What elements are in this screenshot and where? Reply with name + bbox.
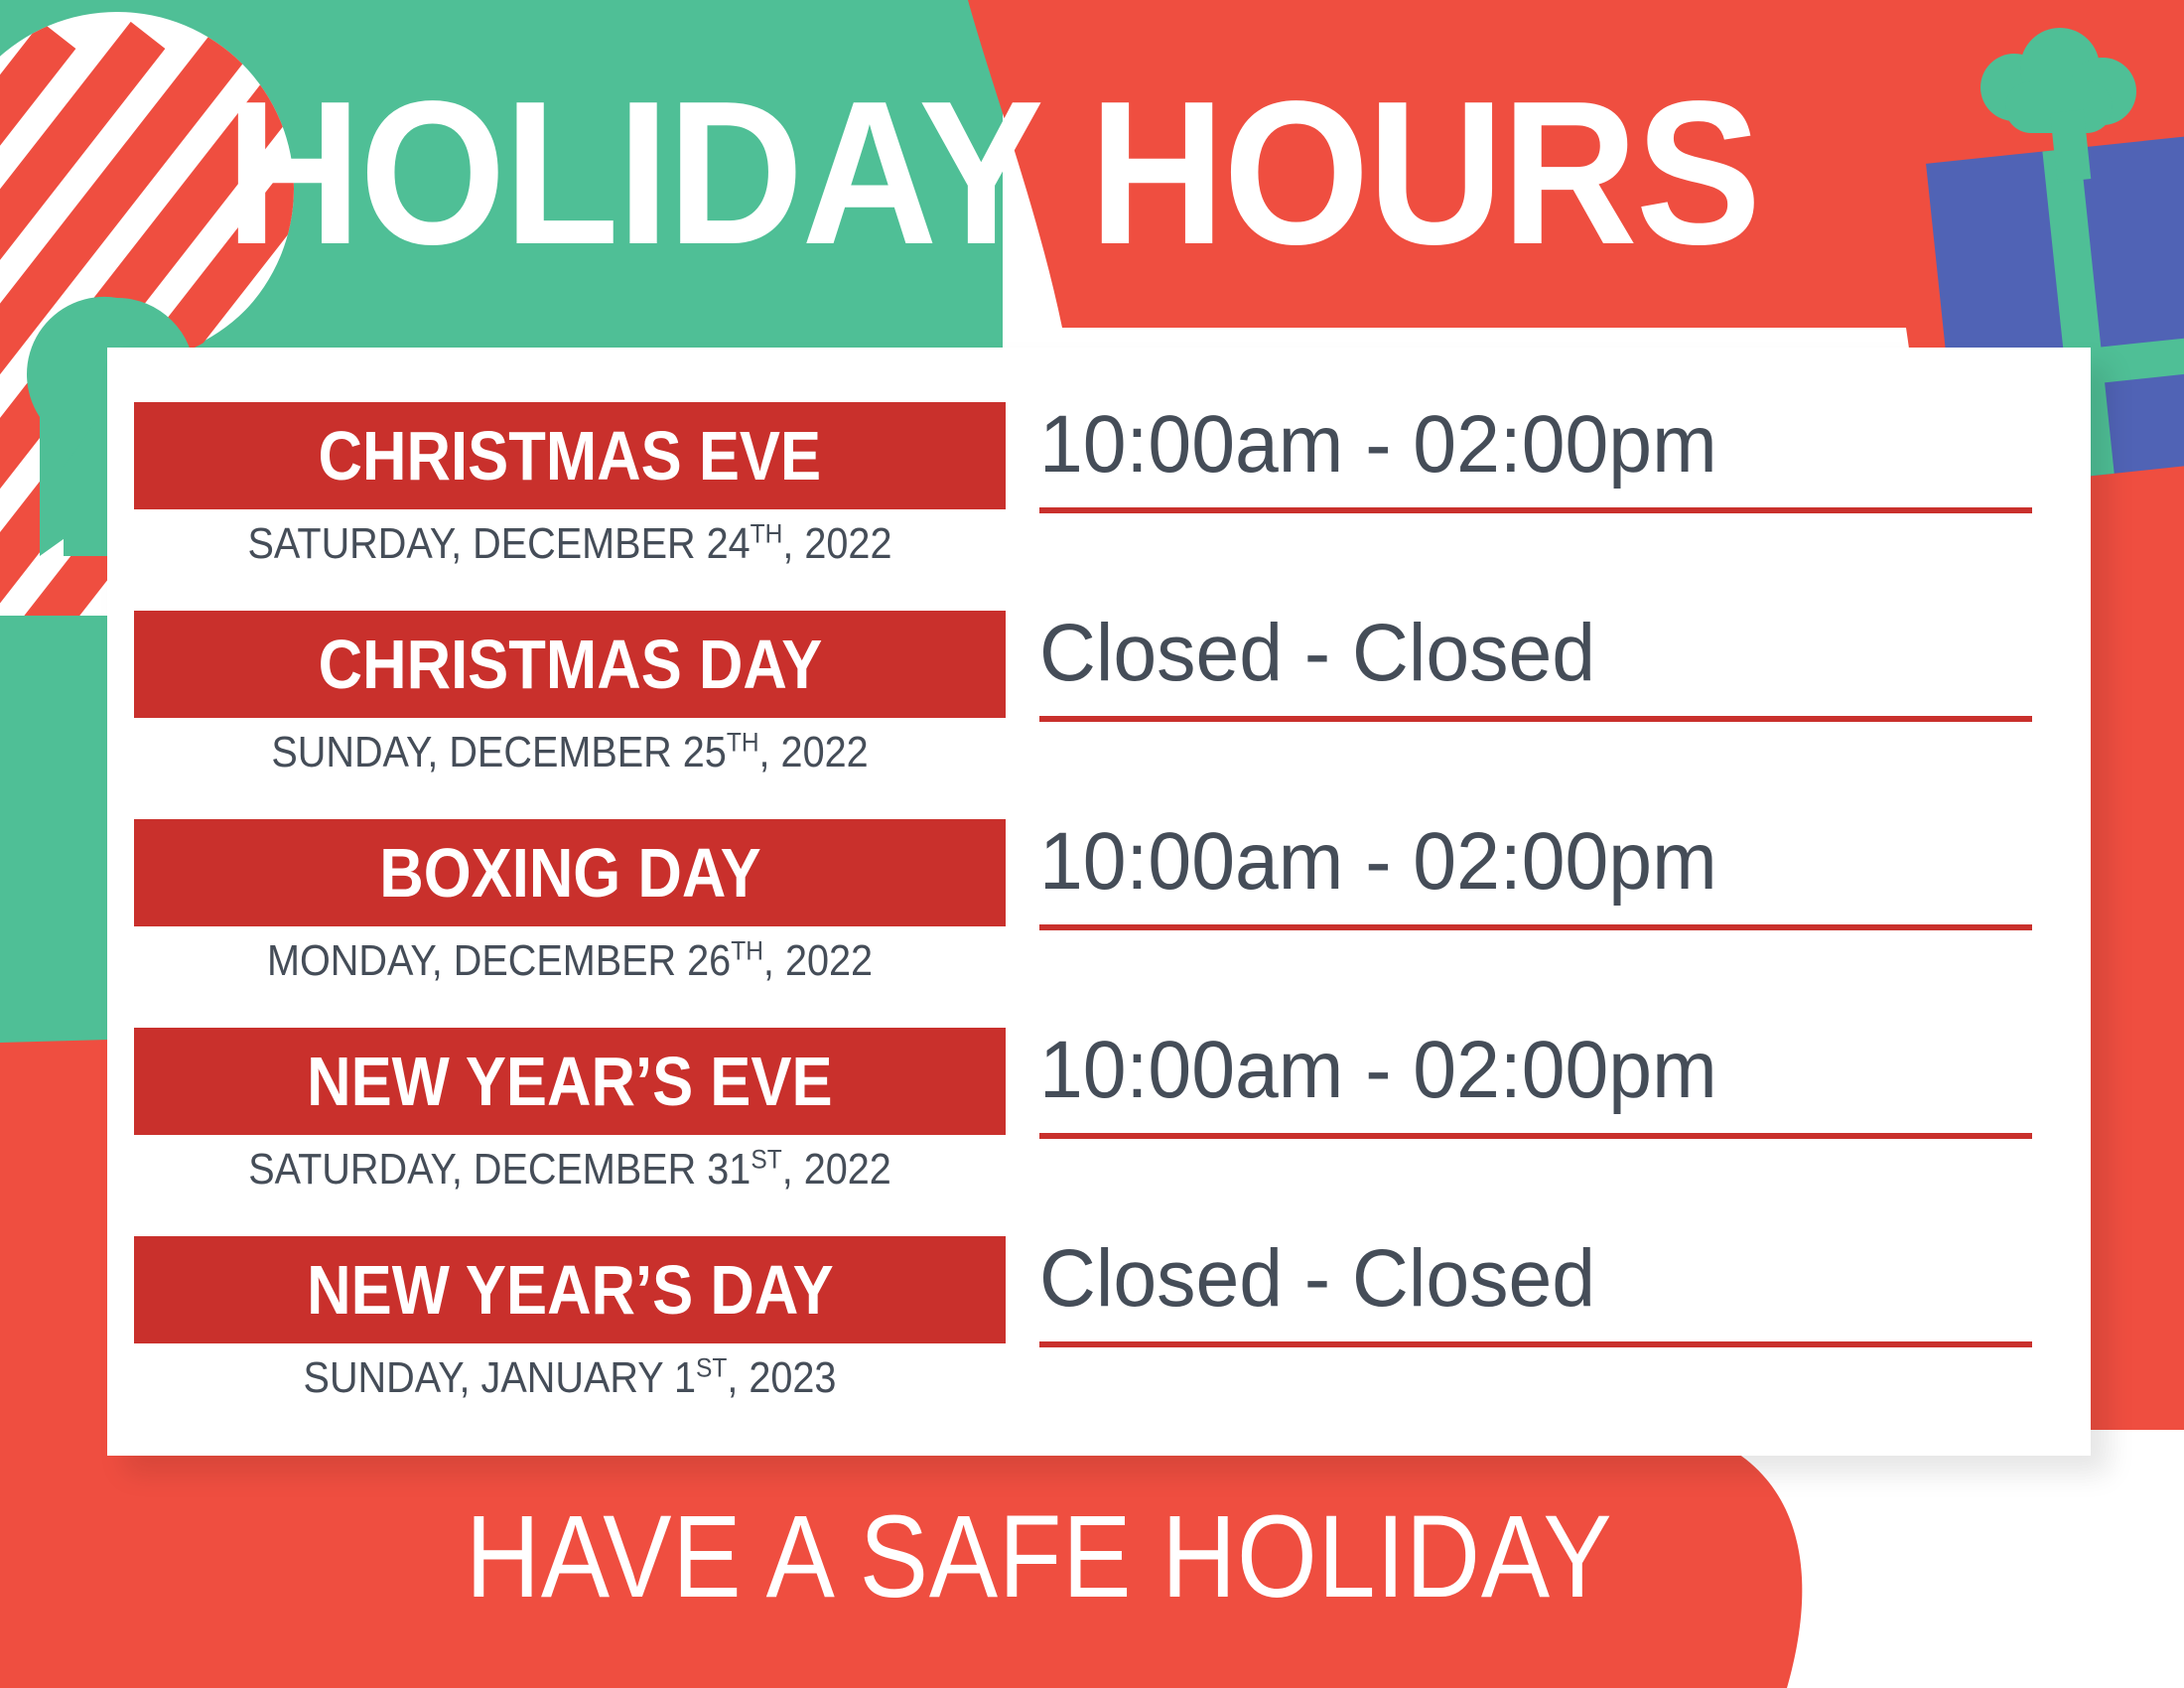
holiday-name: CHRISTMAS DAY <box>318 625 822 704</box>
holiday-name: BOXING DAY <box>379 833 761 913</box>
gift-ribbon-stem <box>2050 109 2091 182</box>
hours-underline <box>1039 716 2032 722</box>
holiday-hours: 10:00am - 02:00pm <box>1039 398 1717 492</box>
schedule-row: NEW YEAR’S DAY SUNDAY, JANUARY 1ST, 2023… <box>134 1236 2064 1435</box>
holiday-date-ordinal: TH <box>727 726 759 757</box>
coral-footer-band <box>0 1430 1802 1688</box>
holiday-date: SUNDAY, JANUARY 1ST, 2023 <box>178 1343 962 1403</box>
holiday-date-prefix: MONDAY, DECEMBER 26 <box>267 936 731 985</box>
schedule-row: BOXING DAY MONDAY, DECEMBER 26TH, 2022 1… <box>134 819 2064 1018</box>
holiday-date-prefix: SATURDAY, DECEMBER 31 <box>248 1145 751 1194</box>
schedule-card: CHRISTMAS EVE SATURDAY, DECEMBER 24TH, 2… <box>107 348 2091 1456</box>
schedule-row: CHRISTMAS DAY SUNDAY, DECEMBER 25TH, 202… <box>134 611 2064 809</box>
hours-underline <box>1039 507 2032 513</box>
holiday-hours: Closed - Closed <box>1039 1232 1595 1326</box>
holiday-date-prefix: SATURDAY, DECEMBER 24 <box>248 519 751 568</box>
holiday-name: NEW YEAR’S EVE <box>307 1042 832 1121</box>
holiday-date-ordinal: TH <box>751 517 783 548</box>
holiday-date-year: , 2022 <box>763 936 873 985</box>
holiday-name-bar: CHRISTMAS DAY <box>134 611 1006 718</box>
holiday-hours-cell: Closed - Closed <box>1039 1236 2032 1347</box>
holiday-date-ordinal: TH <box>731 934 763 965</box>
holiday-date-ordinal: ST <box>696 1351 727 1382</box>
holiday-name-bar: BOXING DAY <box>134 819 1006 926</box>
holiday-hours-poster: HOLIDAY HOURS CHRISTMAS EVE SATURDAY, DE… <box>0 0 2184 1688</box>
holiday-name: NEW YEAR’S DAY <box>307 1250 834 1330</box>
holiday-date-ordinal: ST <box>751 1143 781 1174</box>
hours-underline <box>1039 1341 2032 1347</box>
holiday-date-year: , 2022 <box>782 1145 891 1194</box>
hours-underline <box>1039 924 2032 930</box>
holiday-date-prefix: SUNDAY, DECEMBER 25 <box>271 728 726 776</box>
holiday-date-prefix: SUNDAY, JANUARY 1 <box>304 1353 696 1402</box>
holiday-name-bar: NEW YEAR’S EVE <box>134 1028 1006 1135</box>
schedule-row: CHRISTMAS EVE SATURDAY, DECEMBER 24TH, 2… <box>134 402 2064 601</box>
holiday-hours: 10:00am - 02:00pm <box>1039 815 1717 909</box>
holiday-date-year: , 2022 <box>782 519 891 568</box>
holiday-hours-cell: 10:00am - 02:00pm <box>1039 402 2032 513</box>
holiday-hours-cell: 10:00am - 02:00pm <box>1039 819 2032 930</box>
holiday-name-bar: CHRISTMAS EVE <box>134 402 1006 509</box>
holiday-date: SATURDAY, DECEMBER 24TH, 2022 <box>178 509 962 569</box>
holiday-name: CHRISTMAS EVE <box>319 416 822 495</box>
holiday-name-bar: NEW YEAR’S DAY <box>134 1236 1006 1343</box>
hours-underline <box>1039 1133 2032 1139</box>
holiday-hours: 10:00am - 02:00pm <box>1039 1024 1717 1117</box>
holiday-date-year: , 2022 <box>759 728 869 776</box>
holiday-hours: Closed - Closed <box>1039 607 1595 700</box>
holiday-date-year: , 2023 <box>727 1353 836 1402</box>
holiday-date: MONDAY, DECEMBER 26TH, 2022 <box>178 926 962 986</box>
holiday-date: SATURDAY, DECEMBER 31ST, 2022 <box>178 1135 962 1195</box>
holiday-hours-cell: 10:00am - 02:00pm <box>1039 1028 2032 1139</box>
holiday-date: SUNDAY, DECEMBER 25TH, 2022 <box>178 718 962 777</box>
holiday-hours-cell: Closed - Closed <box>1039 611 2032 722</box>
schedule-row: NEW YEAR’S EVE SATURDAY, DECEMBER 31ST, … <box>134 1028 2064 1226</box>
